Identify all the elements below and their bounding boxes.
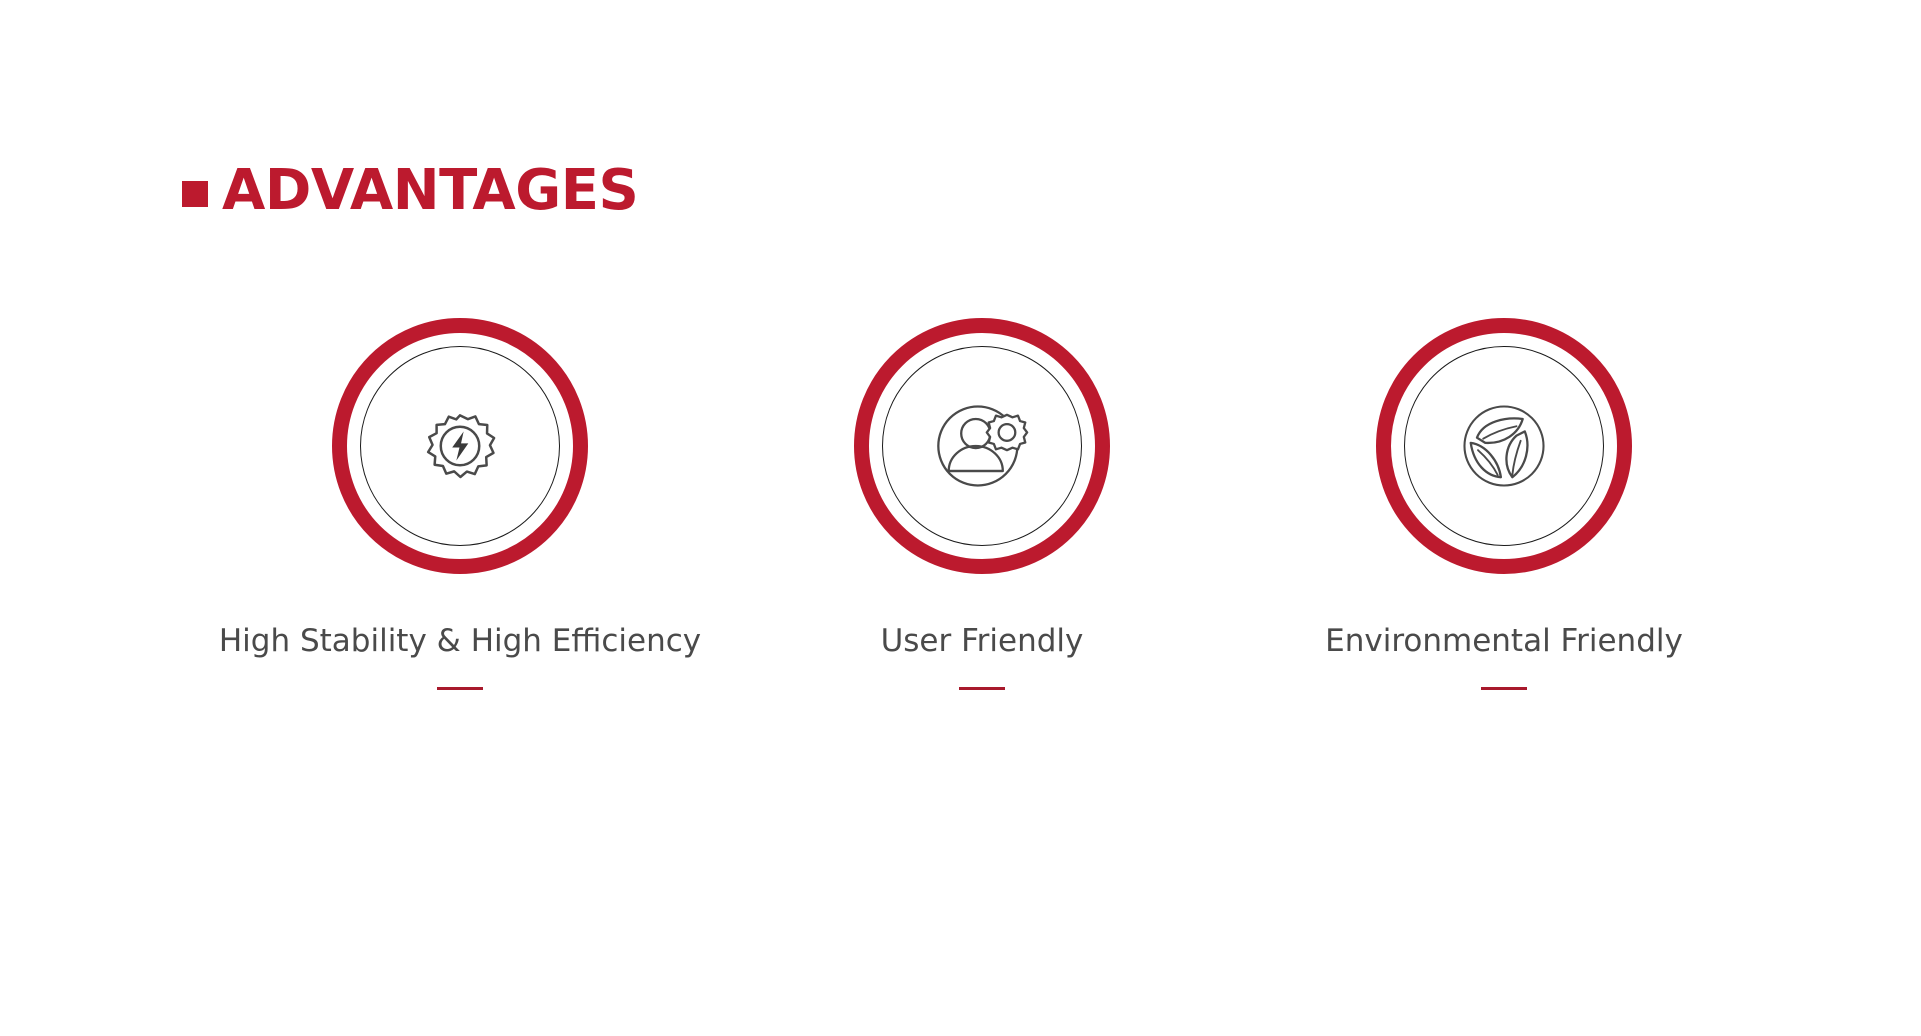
icon-ring-3 (1376, 318, 1632, 574)
eco-leaves-icon (1452, 394, 1556, 498)
icon-ring-1 (332, 318, 588, 574)
advantages-list: High Stability & High Efficiency User Fr… (0, 318, 1921, 690)
page-title: ADVANTAGES (182, 163, 638, 219)
icon-ring-2 (854, 318, 1110, 574)
page-title-text: ADVANTAGES (222, 163, 638, 219)
advantage-card-3[interactable]: Environmental Friendly (1184, 318, 1824, 690)
advantage-label-1: High Stability & High Efficiency (219, 622, 701, 661)
gear-lightning-icon (408, 394, 512, 498)
advantage-label-2: User Friendly (881, 622, 1084, 661)
advantage-rule-3 (1481, 687, 1527, 690)
user-gear-icon (930, 394, 1034, 498)
advantage-label-3: Environmental Friendly (1325, 622, 1683, 661)
advantage-rule-2 (959, 687, 1005, 690)
advantage-rule-1 (437, 687, 483, 690)
square-bullet-icon (182, 181, 208, 207)
